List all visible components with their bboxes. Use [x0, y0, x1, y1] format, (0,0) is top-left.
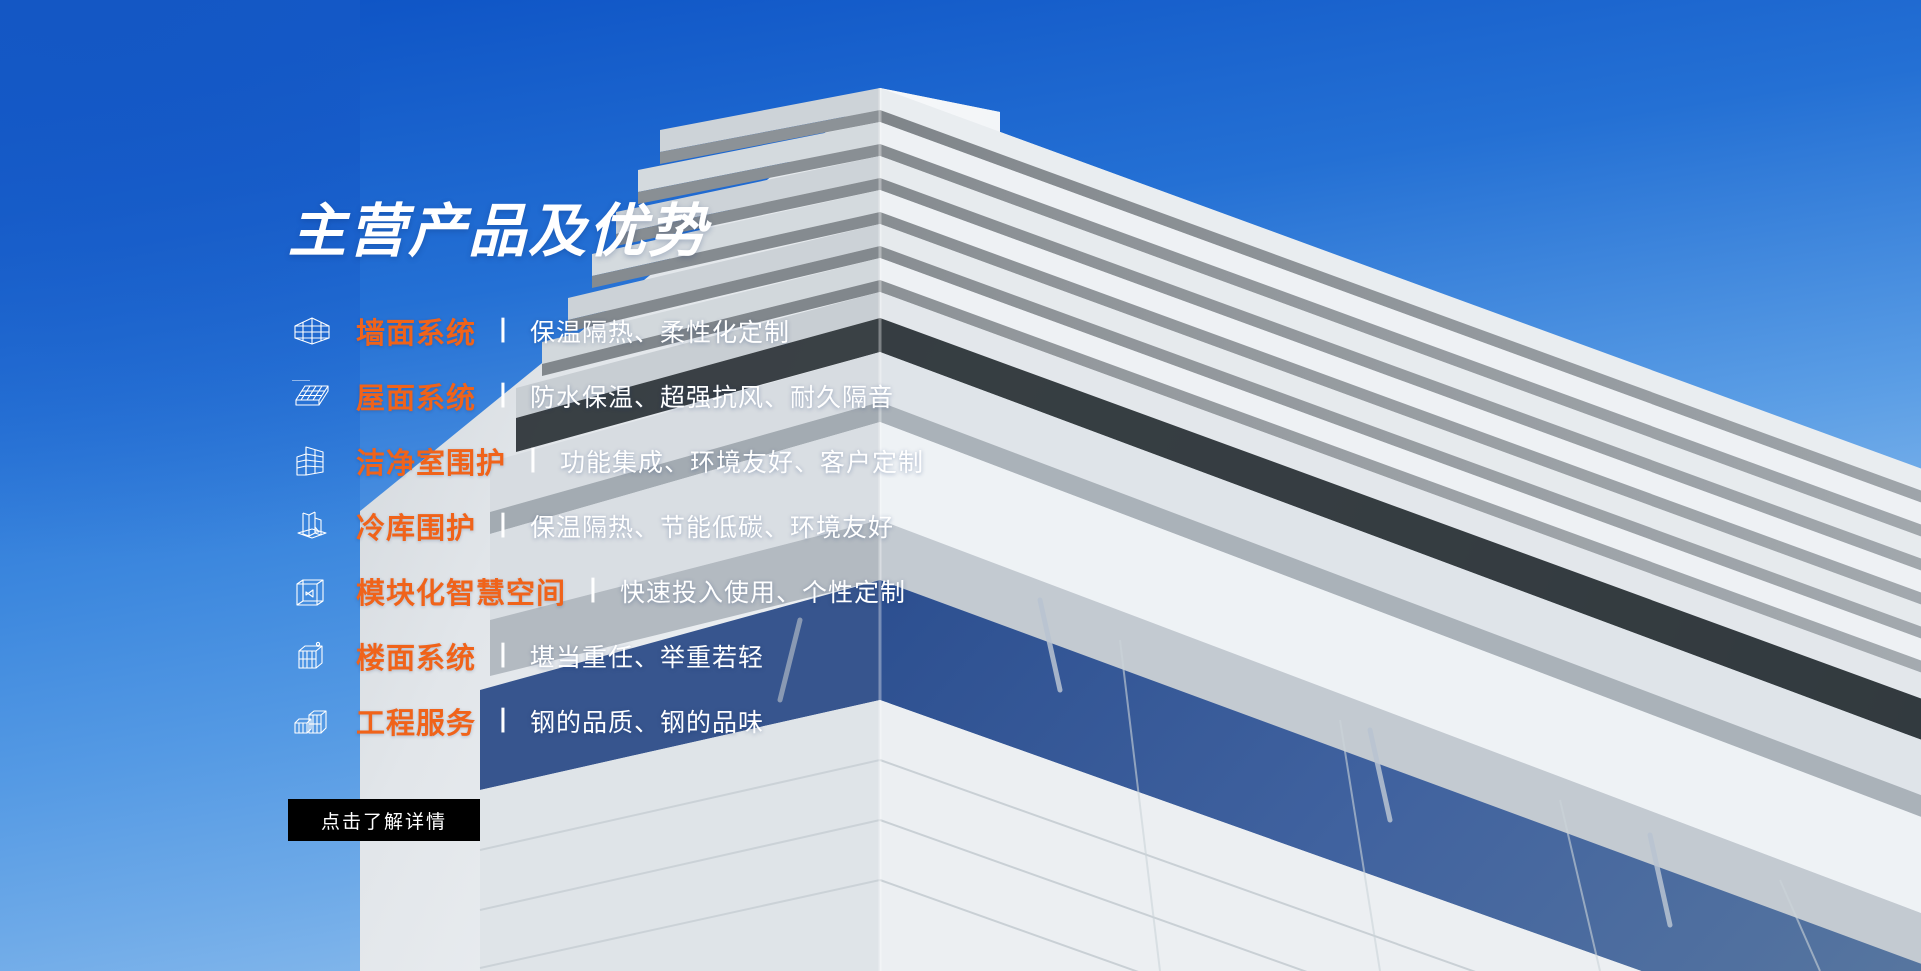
feature-description: 快速投入使用、个性定制 [620, 573, 906, 609]
feature-row-cleanroom[interactable]: 洁净室围护 丨 功能集成、环境友好、客户定制 [286, 428, 1186, 493]
feature-description: 钢的品质、钢的品味 [530, 703, 764, 739]
feature-separator: 丨 [580, 571, 606, 608]
feature-name: 冷库围护 [356, 505, 476, 547]
feature-separator: 丨 [490, 636, 516, 673]
feature-row-roof-system[interactable]: 屋面系统 丨 防水保温、超强抗风、耐久隔音 [286, 363, 1186, 428]
feature-name: 模块化智慧空间 [356, 570, 566, 612]
feature-row-engineering-service[interactable]: 工程服务 丨 钢的品质、钢的品味 [286, 688, 1186, 753]
learn-more-button[interactable]: 点击了解详情 [288, 799, 480, 841]
modular-space-icon [286, 569, 338, 613]
feature-row-cold-storage[interactable]: 冷库围护 丨 保温隔热、节能低碳、环境友好 [286, 493, 1186, 558]
feature-list: 墙面系统 丨 保温隔热、柔性化定制 [286, 298, 1186, 753]
cold-storage-icon [286, 504, 338, 548]
feature-name: 洁净室围护 [356, 440, 506, 482]
feature-description: 功能集成、环境友好、客户定制 [560, 443, 924, 479]
engineering-service-icon [286, 699, 338, 743]
banner-content: 主营产品及优势 墙面系统 丨 保温隔热、柔性化定 [0, 0, 900, 971]
feature-name: 工程服务 [356, 700, 476, 742]
product-advantages-banner: 主营产品及优势 墙面系统 丨 保温隔热、柔性化定 [0, 0, 1921, 971]
feature-description: 保温隔热、柔性化定制 [530, 313, 790, 349]
roof-system-icon [286, 374, 338, 418]
cleanroom-icon [286, 439, 338, 483]
floor-system-icon [286, 634, 338, 678]
feature-separator: 丨 [520, 441, 546, 478]
feature-row-floor-system[interactable]: 楼面系统 丨 堪当重任、举重若轻 [286, 623, 1186, 688]
wall-system-icon [286, 309, 338, 353]
page-title: 主营产品及优势 [288, 203, 708, 261]
feature-separator: 丨 [490, 376, 516, 413]
feature-description: 堪当重任、举重若轻 [530, 638, 764, 674]
feature-separator: 丨 [490, 311, 516, 348]
feature-name: 墙面系统 [356, 310, 476, 352]
feature-description: 防水保温、超强抗风、耐久隔音 [530, 378, 894, 414]
feature-separator: 丨 [490, 506, 516, 543]
feature-description: 保温隔热、节能低碳、环境友好 [530, 508, 894, 544]
feature-row-wall-system[interactable]: 墙面系统 丨 保温隔热、柔性化定制 [286, 298, 1186, 363]
feature-row-modular-space[interactable]: 模块化智慧空间 丨 快速投入使用、个性定制 [286, 558, 1186, 623]
feature-separator: 丨 [490, 701, 516, 738]
feature-name: 屋面系统 [356, 375, 476, 417]
feature-name: 楼面系统 [356, 635, 476, 677]
